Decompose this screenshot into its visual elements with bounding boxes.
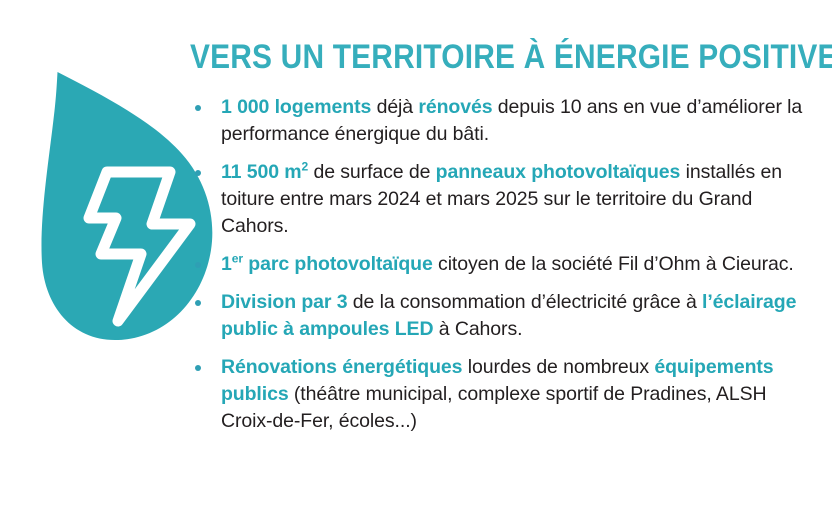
content-column: VERS UN TERRITOIRE À ÉNERGIE POSITIVE 1 … xyxy=(190,38,815,435)
facts-list: 1 000 logements déjà rénovés depuis 10 a… xyxy=(190,94,815,435)
list-item-text: 1er parc photovoltaïque citoyen de la so… xyxy=(221,253,794,275)
list-item: Rénovations énergétiques lourdes de nomb… xyxy=(190,354,815,435)
list-item: 1 000 logements déjà rénovés depuis 10 a… xyxy=(190,94,815,148)
page-title: VERS UN TERRITOIRE À ÉNERGIE POSITIVE xyxy=(190,38,740,76)
list-item-text: 1 000 logements déjà rénovés depuis 10 a… xyxy=(221,96,802,145)
list-item-text: 11 500 m2 de surface de panneaux photovo… xyxy=(221,161,782,237)
energy-infographic: VERS UN TERRITOIRE À ÉNERGIE POSITIVE 1 … xyxy=(0,0,832,515)
bullet-dot-icon xyxy=(195,365,201,371)
list-item-text: Rénovations énergétiques lourdes de nomb… xyxy=(221,356,774,432)
list-item-text: Division par 3 de la consommation d’élec… xyxy=(221,291,796,340)
list-item: 1er parc photovoltaïque citoyen de la so… xyxy=(190,251,815,278)
bullet-dot-icon xyxy=(195,300,201,306)
list-item: Division par 3 de la consommation d’élec… xyxy=(190,289,815,343)
list-item: 11 500 m2 de surface de panneaux photovo… xyxy=(190,159,815,240)
bullet-dot-icon xyxy=(195,262,201,268)
bullet-dot-icon xyxy=(195,105,201,111)
bullet-dot-icon xyxy=(195,170,201,176)
